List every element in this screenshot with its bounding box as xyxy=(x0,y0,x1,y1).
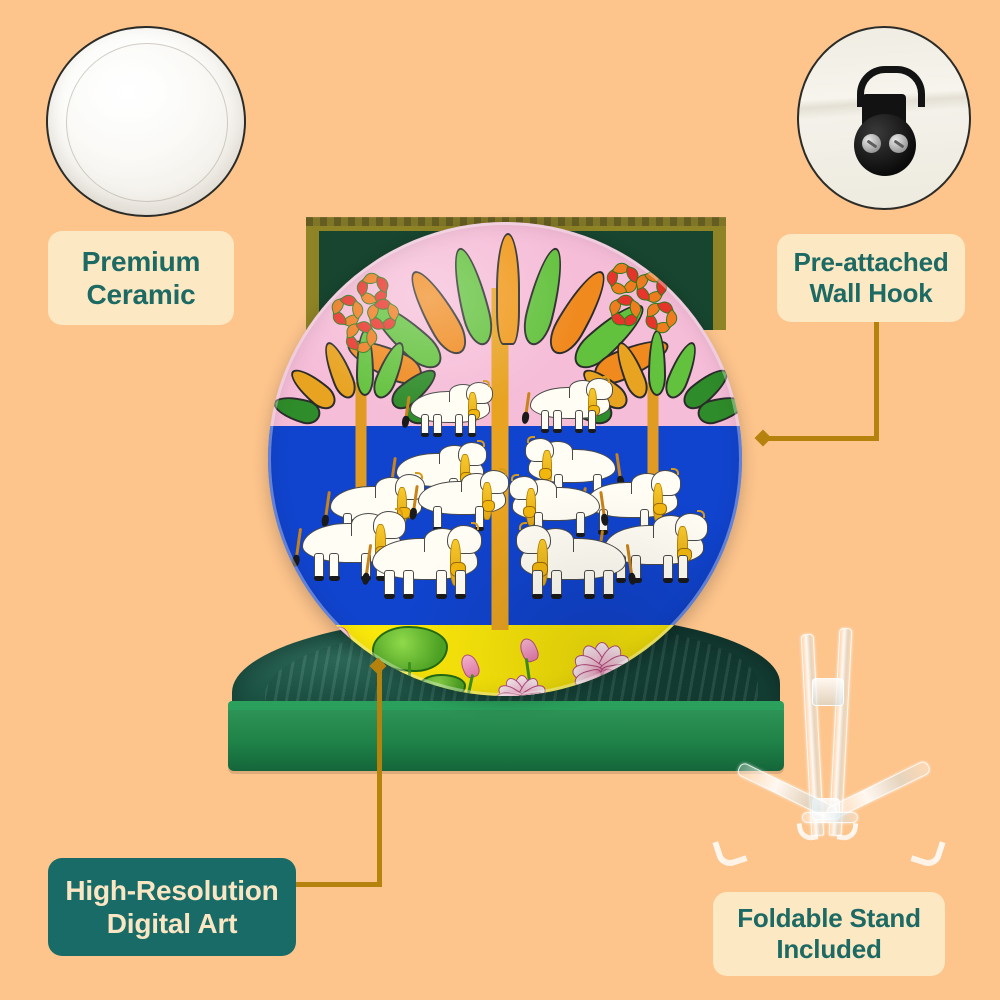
screw-icon xyxy=(889,134,908,153)
cow-figure xyxy=(372,522,476,594)
flower-cluster-left xyxy=(326,276,418,348)
product-feature-infographic: Premium Ceramic Pre-attached Wall Hook H… xyxy=(0,0,1000,1000)
connector-wall-hook-vertical xyxy=(874,322,879,440)
screw-icon xyxy=(862,134,881,153)
stand-foot-center-right xyxy=(836,820,858,842)
badge-line-2: Ceramic xyxy=(86,278,195,311)
feature-badge-foldable-stand[interactable]: Foldable Stand Included xyxy=(713,892,945,976)
stand-foot-right xyxy=(910,834,945,869)
badge-line-1: Premium xyxy=(82,245,200,278)
stand-foot-center-left xyxy=(796,820,818,842)
stand-foot-left xyxy=(712,834,747,869)
cow-figure xyxy=(530,376,608,428)
badge-line-1: Foldable Stand xyxy=(737,903,921,934)
box-base xyxy=(228,708,784,771)
palm-tree-right xyxy=(598,330,708,430)
badge-line-1: Pre-attached xyxy=(793,247,948,278)
flower-cluster-right xyxy=(604,266,696,338)
feature-badge-wall-hook[interactable]: Pre-attached Wall Hook xyxy=(777,234,965,322)
cow-figure xyxy=(522,522,626,594)
palm-frond xyxy=(648,330,666,396)
cow-figure xyxy=(418,468,504,526)
lily-pad-icon xyxy=(624,660,674,692)
badge-line-1: High-Resolution xyxy=(65,874,278,907)
palm-tree-center xyxy=(400,231,610,371)
pinwheel-flower-icon xyxy=(334,298,360,324)
badge-line-2: Included xyxy=(776,934,881,965)
stand-hinge-upper xyxy=(812,678,844,706)
palm-frond xyxy=(496,233,520,345)
connector-wall-hook-horizontal xyxy=(762,436,879,441)
pinwheel-flower-icon xyxy=(610,266,636,292)
connector-digital-art-vertical xyxy=(377,664,382,886)
pinwheel-flower-icon xyxy=(648,304,674,330)
badge-line-2: Digital Art xyxy=(107,907,238,940)
pinwheel-flower-icon xyxy=(638,274,664,300)
badge-line-2: Wall Hook xyxy=(810,278,933,309)
connector-digital-art-horizontal xyxy=(296,882,382,887)
decorative-wall-plate xyxy=(268,222,742,696)
feature-badge-digital-art[interactable]: High-Resolution Digital Art xyxy=(48,858,296,956)
white-ceramic-plate-icon xyxy=(46,26,246,217)
wall-hook-icon xyxy=(797,26,971,210)
plate-stand-icon xyxy=(706,616,956,878)
lily-pad-icon xyxy=(418,674,466,696)
cow-figure xyxy=(410,380,488,432)
pinwheel-flower-icon xyxy=(612,298,638,324)
lotus-flower-icon xyxy=(494,672,550,696)
pinwheel-flower-icon xyxy=(348,324,374,350)
feature-badge-premium-ceramic[interactable]: Premium Ceramic xyxy=(48,231,234,325)
